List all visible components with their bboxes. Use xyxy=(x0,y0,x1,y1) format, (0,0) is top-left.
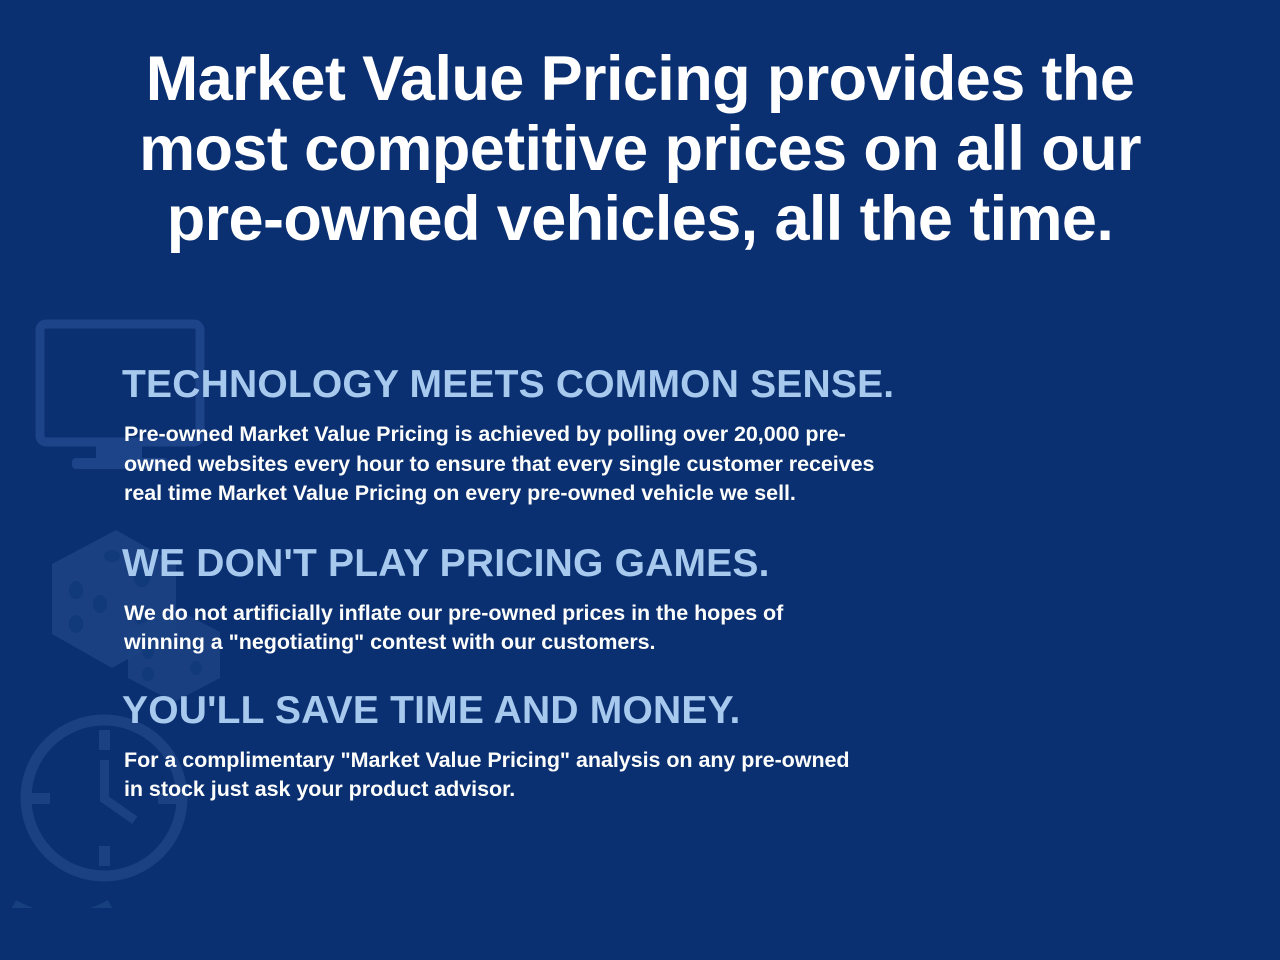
section-body-technology: Pre-owned Market Value Pricing is achiev… xyxy=(0,420,1100,509)
section-body-pricing-games: We do not artificially inflate our pre-o… xyxy=(0,599,1100,658)
section-heading-technology: TECHNOLOGY MEETS COMMON SENSE. xyxy=(0,362,1280,408)
headline-line-3: pre-owned vehicles, all the time. xyxy=(90,184,1190,254)
body-line: in stock just ask your product advisor. xyxy=(124,775,1100,805)
section-heading-pricing-games: WE DON'T PLAY PRICING GAMES. xyxy=(0,541,1280,587)
headline-line-2: most competitive prices on all our xyxy=(90,114,1190,184)
body-line: owned websites every hour to ensure that… xyxy=(124,450,1100,480)
body-line: winning a "negotiating" contest with our… xyxy=(124,628,1100,658)
section-body-save-time: For a complimentary "Market Value Pricin… xyxy=(0,746,1100,805)
page-title: Market Value Pricing provides the most c… xyxy=(0,44,1280,254)
body-line: Pre-owned Market Value Pricing is achiev… xyxy=(124,420,1100,450)
body-line: For a complimentary "Market Value Pricin… xyxy=(124,746,1100,776)
sections-list: TECHNOLOGY MEETS COMMON SENSE. Pre-owned… xyxy=(0,362,1280,805)
body-line: We do not artificially inflate our pre-o… xyxy=(124,599,1100,629)
section-pricing-games: WE DON'T PLAY PRICING GAMES. We do not a… xyxy=(0,541,1280,658)
section-heading-save-time: YOU'LL SAVE TIME AND MONEY. xyxy=(0,688,1280,734)
body-line: real time Market Value Pricing on every … xyxy=(124,479,1100,509)
slide-root: Market Value Pricing provides the most c… xyxy=(0,0,1280,960)
headline-line-1: Market Value Pricing provides the xyxy=(90,44,1190,114)
section-save-time: YOU'LL SAVE TIME AND MONEY. For a compli… xyxy=(0,688,1280,805)
section-technology: TECHNOLOGY MEETS COMMON SENSE. Pre-owned… xyxy=(0,362,1280,509)
